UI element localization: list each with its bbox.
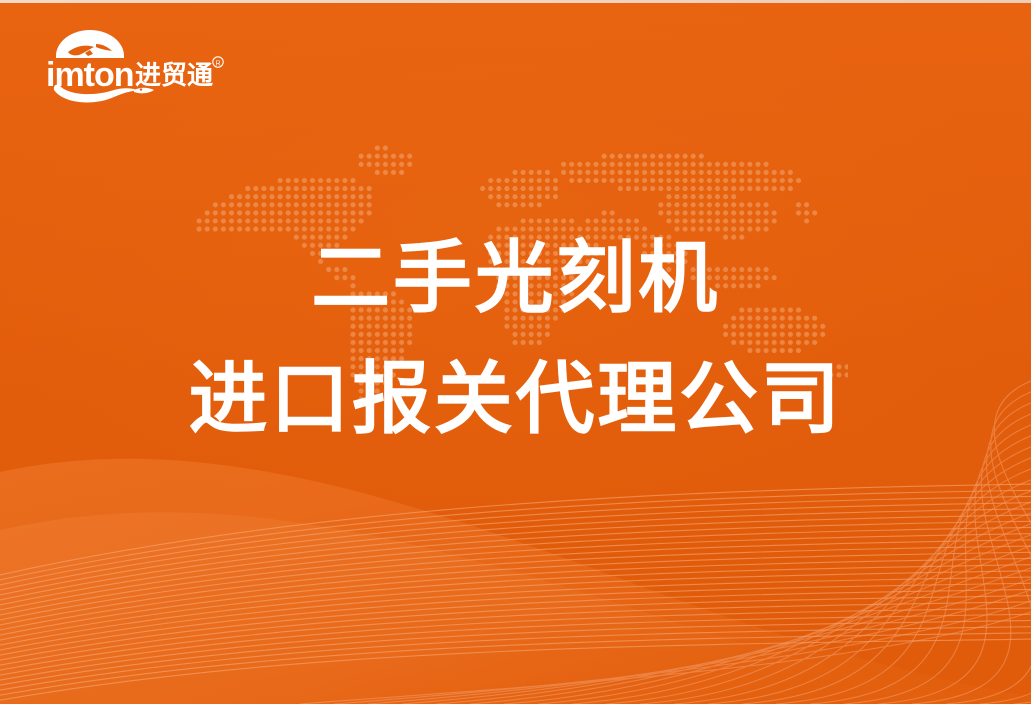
top-edge-hairline xyxy=(0,0,1031,3)
page-title: 二手光刻机 进口报关代理公司 xyxy=(0,238,1031,438)
svg-text:R: R xyxy=(215,60,220,67)
globe-icon xyxy=(56,30,124,58)
headline-line-1: 二手光刻机 xyxy=(0,238,1031,317)
headline-line-2: 进口报关代理公司 xyxy=(0,359,1031,438)
banner-canvas: imton 进贸通 R 二手光刻机 进口报关代理公司 xyxy=(0,0,1031,704)
company-logo[interactable]: imton 进贸通 R xyxy=(38,28,228,104)
svg-text:进贸通: 进贸通 xyxy=(135,60,213,90)
